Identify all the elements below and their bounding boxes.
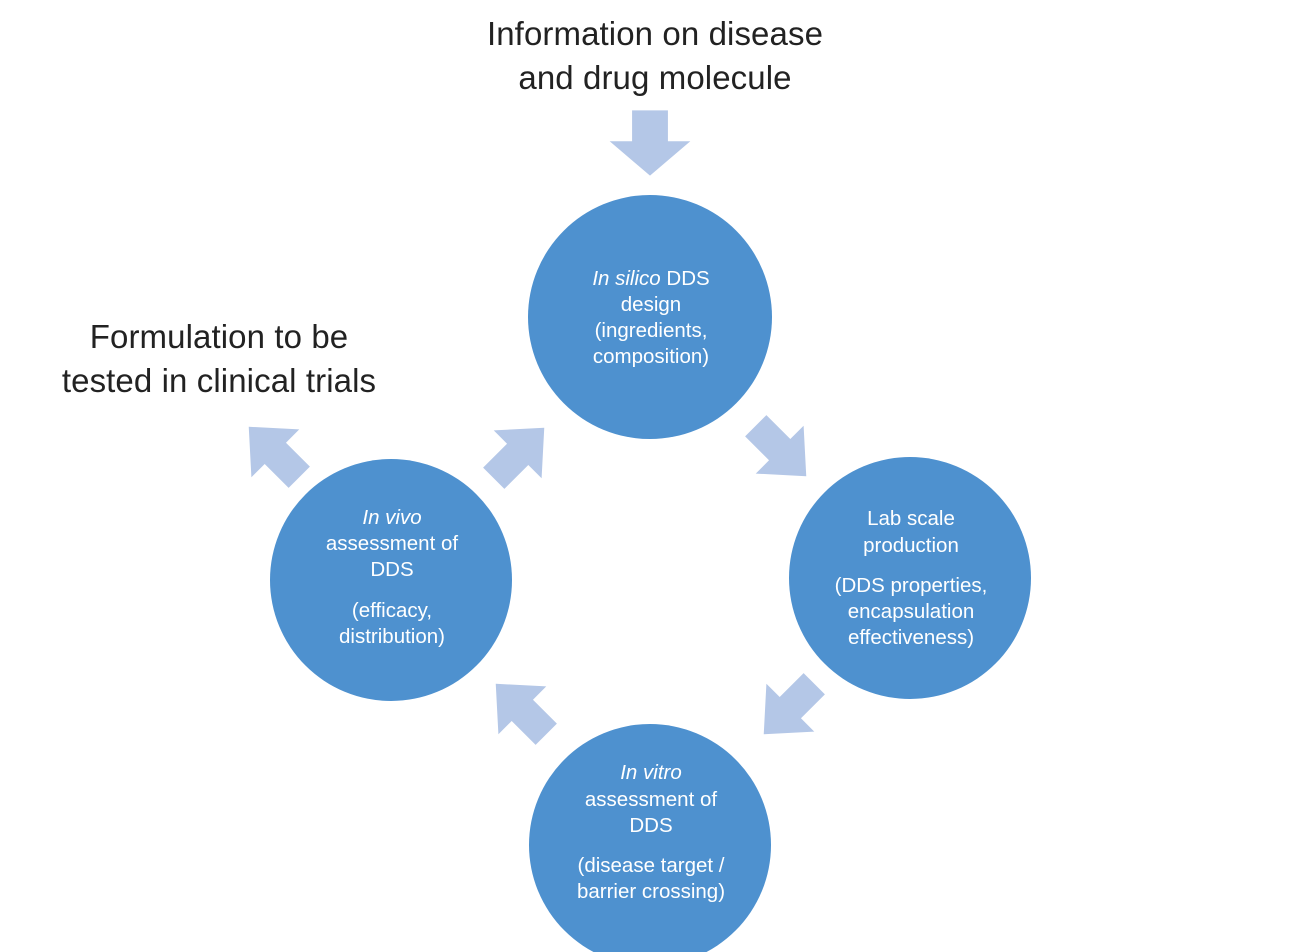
arrow-in-vivo-to-outcome [225,403,323,501]
diagram-canvas: Information on disease and drug molecule… [0,0,1294,952]
arrow-in-vitro-to-in-vivo [472,660,570,758]
node-circle-in-vitro-assessment[interactable] [529,724,771,952]
arrow-input-to-in-silico [610,110,691,175]
outcome-label: Formulation to be tested in clinical tri… [20,315,418,403]
node-circle-in-silico-dds-design[interactable] [528,195,772,439]
arrow-in-vivo-to-in-silico [470,404,568,502]
diagram-shapes [0,0,1294,952]
node-circle-in-vivo-assessment[interactable] [270,459,512,701]
arrow-lab-to-in-vitro [740,660,838,758]
arrow-in-silico-to-lab [732,402,830,500]
input-label: Information on disease and drug molecule [400,12,910,100]
node-circle-lab-scale-production[interactable] [789,457,1031,699]
